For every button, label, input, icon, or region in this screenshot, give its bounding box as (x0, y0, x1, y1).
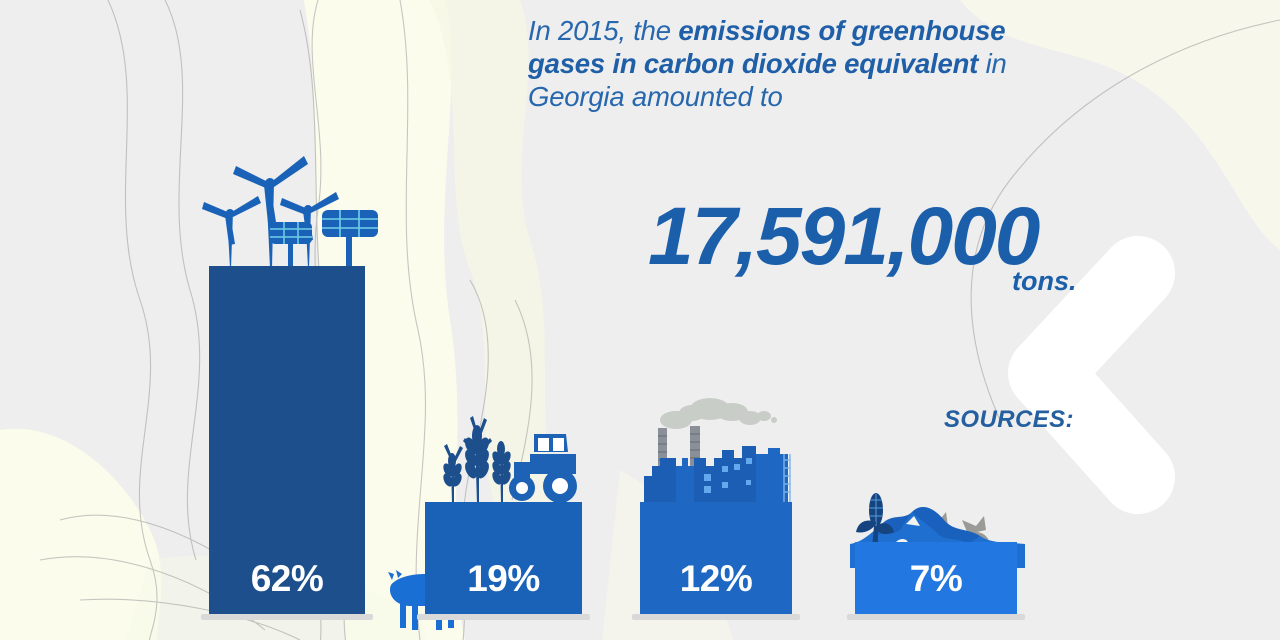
emissions-total-value: 17,591,000 (648, 196, 1038, 278)
bar-agriculture[interactable]: 19% (425, 502, 582, 614)
bar-baseline-1 (201, 614, 373, 620)
bar-label-waste: 7% (855, 558, 1017, 600)
sources-label: SOURCES: (944, 406, 1074, 434)
bar-energy[interactable]: 62% (209, 266, 365, 614)
bar-baseline-2 (417, 614, 590, 620)
bar-baseline-4 (847, 614, 1025, 620)
bar-label-industrial-processes: 12% (640, 558, 792, 600)
emissions-total-unit: tons. (1012, 266, 1077, 297)
bar-waste[interactable]: 7% (855, 542, 1017, 614)
bar-baseline-3 (632, 614, 800, 620)
bar-label-energy: 62% (209, 558, 365, 600)
bar-label-agriculture: 19% (425, 558, 582, 600)
bar-industrial-processes[interactable]: 12% (640, 502, 792, 614)
headline-part1: In 2015, the (528, 15, 678, 46)
page-title: In 2015, the emissions of greenhouse gas… (528, 14, 1028, 113)
